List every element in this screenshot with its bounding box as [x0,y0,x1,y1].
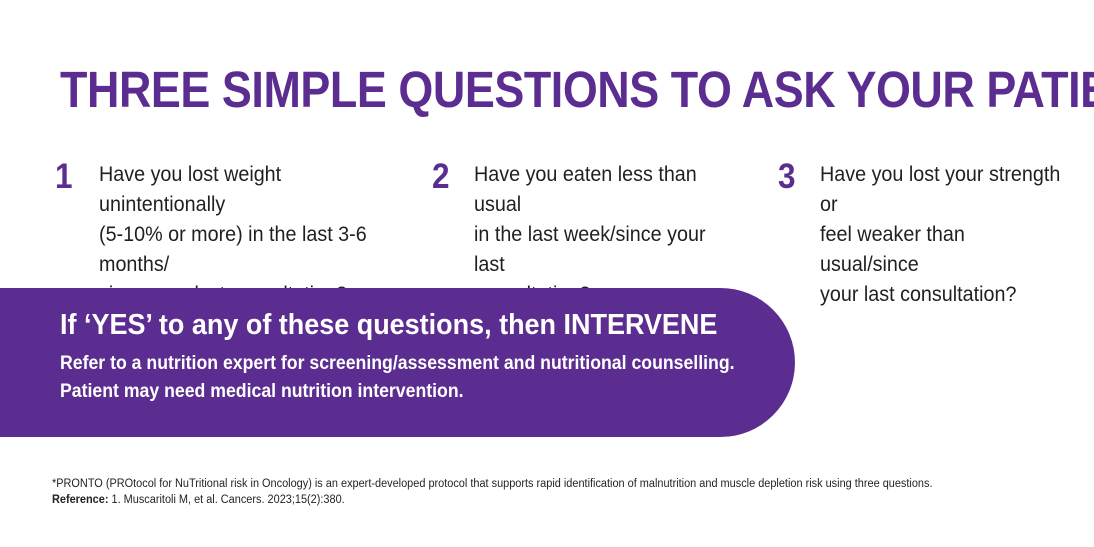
infographic-canvas: THREE SIMPLE QUESTIONS TO ASK YOUR PATIE… [0,0,1094,547]
banner-subtext: Refer to a nutrition expert for screenin… [60,350,735,406]
page-title-text: THREE SIMPLE QUESTIONS TO ASK YOUR PATIE… [60,61,1094,118]
reference-label: Reference: [52,494,108,506]
page-title: THREE SIMPLE QUESTIONS TO ASK YOUR PATIE… [60,62,1094,118]
footnote-asterisk-note: *PRONTO (PROtocol for NuTritional risk i… [52,476,1002,492]
question-number-1: 1 [55,160,82,194]
question-text-3: Have you lost your strength or feel weak… [820,160,1063,310]
question-number-2: 2 [432,160,459,194]
question-number-3: 3 [778,160,805,194]
banner-subtext-line-2: Patient may need medical nutrition inter… [60,378,735,406]
reference-text: 1. Muscaritoli M, et al. Cancers. 2023;1… [108,494,344,506]
banner-subtext-line-1: Refer to a nutrition expert for screenin… [60,350,735,378]
banner-headline: If ‘YES’ to any of these questions, then… [60,308,717,342]
question-item-3: 3 Have you lost your strength or feel we… [778,160,1078,310]
footnotes: *PRONTO (PROtocol for NuTritional risk i… [52,476,1052,508]
questions-row: 1 Have you lost weight unintentionally (… [0,160,1094,270]
footnote-reference: Reference: 1. Muscaritoli M, et al. Canc… [52,492,1002,508]
intervene-banner: If ‘YES’ to any of these questions, then… [0,288,795,437]
